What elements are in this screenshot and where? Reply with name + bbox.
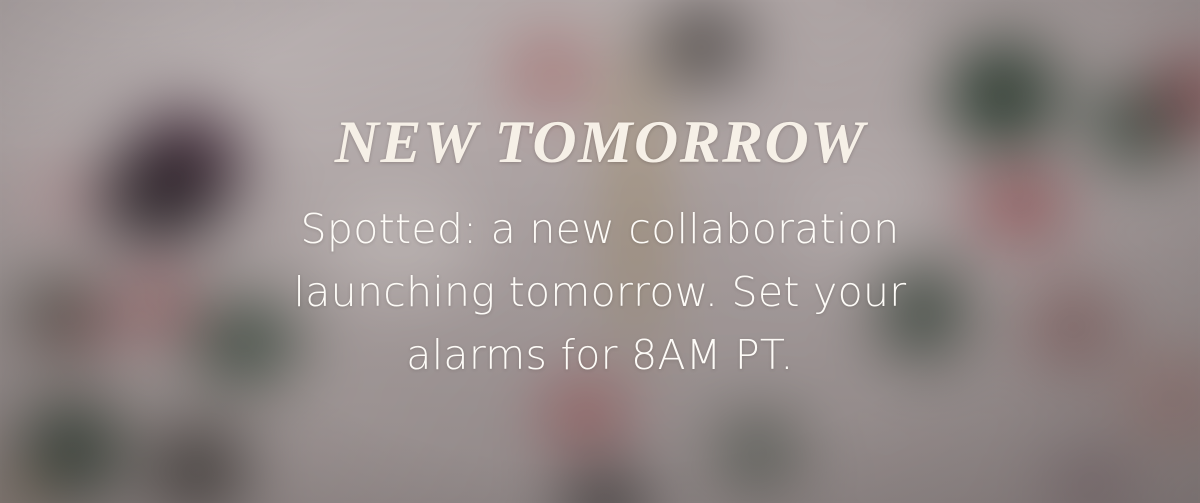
subcopy-line-2: launching tomorrow. Set your — [294, 261, 907, 324]
subcopy-line-3: alarms for 8AM PT. — [294, 324, 907, 387]
banner-headline: NEW TOMORROW — [334, 112, 865, 172]
banner-content: NEW TOMORROW Spotted: a new collaboratio… — [0, 0, 1200, 503]
subcopy-line-1: Spotted: a new collaboration — [294, 198, 907, 261]
promo-banner: NEW TOMORROW Spotted: a new collaboratio… — [0, 0, 1200, 503]
banner-subcopy: Spotted: a new collaboration launching t… — [294, 172, 907, 387]
